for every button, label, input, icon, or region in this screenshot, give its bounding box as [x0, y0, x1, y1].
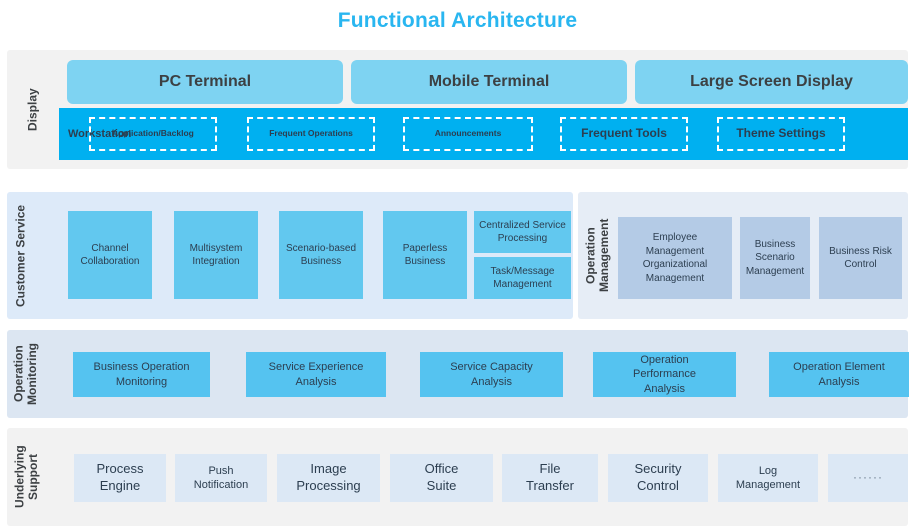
- underlying-support-band-label: Underlying Support: [7, 428, 47, 526]
- workstation-strip: Workstation Application/BacklogFrequent …: [59, 108, 908, 160]
- operation-monitoring-box-operation-element-analysis[interactable]: Operation ElementAnalysis: [769, 352, 909, 397]
- operation-management-box-business-risk-control[interactable]: Business RiskControl: [819, 217, 902, 299]
- customer-service-box-channel-collaboration[interactable]: ChannelCollaboration: [68, 211, 152, 299]
- underlying-support-box-file-transfer[interactable]: FileTransfer: [502, 454, 598, 502]
- workstation-entry-application-backlog[interactable]: Application/Backlog: [89, 117, 217, 151]
- display-band: Display PC TerminalMobile TerminalLarge …: [7, 50, 908, 169]
- page-title: Functional Architecture: [0, 9, 915, 33]
- underlying-support-band: Underlying Support ProcessEnginePushNoti…: [7, 428, 908, 526]
- operation-monitoring-box-service-experience-analysis[interactable]: Service ExperienceAnalysis: [246, 352, 386, 397]
- terminal-mobile-terminal[interactable]: Mobile Terminal: [351, 60, 627, 104]
- operation-monitoring-box-business-operation-monitoring[interactable]: Business OperationMonitoring: [73, 352, 210, 397]
- terminal-pc-terminal[interactable]: PC Terminal: [67, 60, 343, 104]
- operation-monitoring-band: Operation Monitoring Business OperationM…: [7, 330, 908, 418]
- workstation-entry-frequent-operations[interactable]: Frequent Operations: [247, 117, 375, 151]
- workstation-entry-frequent-tools[interactable]: Frequent Tools: [560, 117, 688, 151]
- underlying-support-box-security-control[interactable]: SecurityControl: [608, 454, 708, 502]
- operation-monitoring-box-service-capacity-analysis[interactable]: Service CapacityAnalysis: [420, 352, 563, 397]
- underlying-support-box-item[interactable]: ······: [828, 454, 908, 502]
- underlying-support-box-image-processing[interactable]: ImageProcessing: [277, 454, 380, 502]
- customer-service-box-paperless-business[interactable]: PaperlessBusiness: [383, 211, 467, 299]
- workstation-entry-announcements[interactable]: Announcements: [403, 117, 533, 151]
- customer-service-box-scenario-based-business[interactable]: Scenario-basedBusiness: [279, 211, 363, 299]
- underlying-support-box-process-engine[interactable]: ProcessEngine: [74, 454, 166, 502]
- customer-service-box-centralized-service-processing[interactable]: Centralized ServiceProcessing: [474, 211, 571, 253]
- underlying-support-box-office-suite[interactable]: OfficeSuite: [390, 454, 493, 502]
- customer-service-band-label: Customer Service: [7, 192, 35, 319]
- customer-service-box-multisystem-integration[interactable]: MultisystemIntegration: [174, 211, 258, 299]
- terminal-large-screen-display[interactable]: Large Screen Display: [635, 60, 908, 104]
- customer-service-box-task-message-management[interactable]: Task/MessageManagement: [474, 257, 571, 299]
- display-band-label: Display: [7, 50, 59, 169]
- underlying-support-box-push-notification[interactable]: PushNotification: [175, 454, 267, 502]
- customer-service-band: Customer Service ChannelCollaborationMul…: [7, 192, 573, 319]
- operation-monitoring-band-label: Operation Monitoring: [7, 330, 45, 418]
- operation-management-box-employee-management-organizational-management[interactable]: EmployeeManagementOrganizationalManageme…: [618, 217, 732, 299]
- operation-monitoring-box-operation-performance-analysis[interactable]: OperationPerformanceAnalysis: [593, 352, 736, 397]
- workstation-entry-theme-settings[interactable]: Theme Settings: [717, 117, 845, 151]
- operation-management-band: Operation Management EmployeeManagementO…: [578, 192, 908, 319]
- underlying-support-box-log-management[interactable]: LogManagement: [718, 454, 818, 502]
- operation-management-box-business-scenario-management[interactable]: BusinessScenarioManagement: [740, 217, 810, 299]
- operation-management-band-label: Operation Management: [578, 192, 618, 319]
